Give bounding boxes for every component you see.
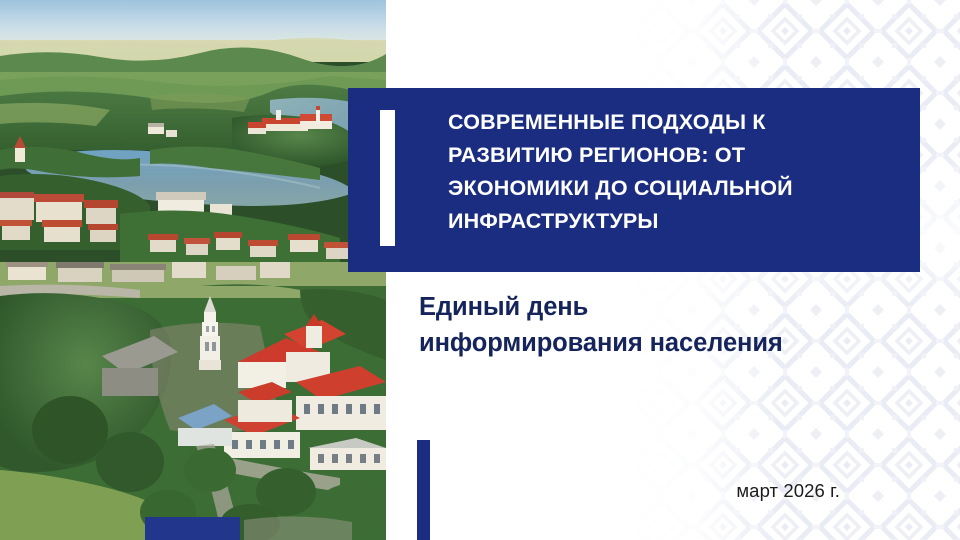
vertical-accent-bar	[417, 440, 430, 540]
subtitle-line-2: информирования населения	[419, 325, 889, 361]
aerial-town-lake-photo	[0, 0, 386, 540]
title-line-3: ЭКОНОМИКИ ДО СОЦИАЛЬНОЙ	[448, 176, 793, 200]
title-line-2: РАЗВИТИЮ РЕГИОНОВ: ОТ	[448, 143, 745, 167]
title-line-4: ИНФРАСТРУКТУРЫ	[448, 209, 659, 233]
title-slide: СОВРЕМЕННЫЕ ПОДХОДЫ К РАЗВИТИЮ РЕГИОНОВ:…	[0, 0, 960, 540]
subtitle: Единый день информирования населения	[419, 289, 889, 361]
subtitle-line-1: Единый день	[419, 289, 889, 325]
date-label: март 2026 г.	[600, 480, 840, 502]
title-line-1: СОВРЕМЕННЫЕ ПОДХОДЫ К	[448, 110, 766, 134]
title-accent-bar	[380, 110, 395, 246]
page-title: СОВРЕМЕННЫЕ ПОДХОДЫ К РАЗВИТИЮ РЕГИОНОВ:…	[448, 106, 898, 238]
photo-bottom-blue-tab	[145, 517, 240, 540]
title-box: СОВРЕМЕННЫЕ ПОДХОДЫ К РАЗВИТИЮ РЕГИОНОВ:…	[348, 88, 920, 272]
